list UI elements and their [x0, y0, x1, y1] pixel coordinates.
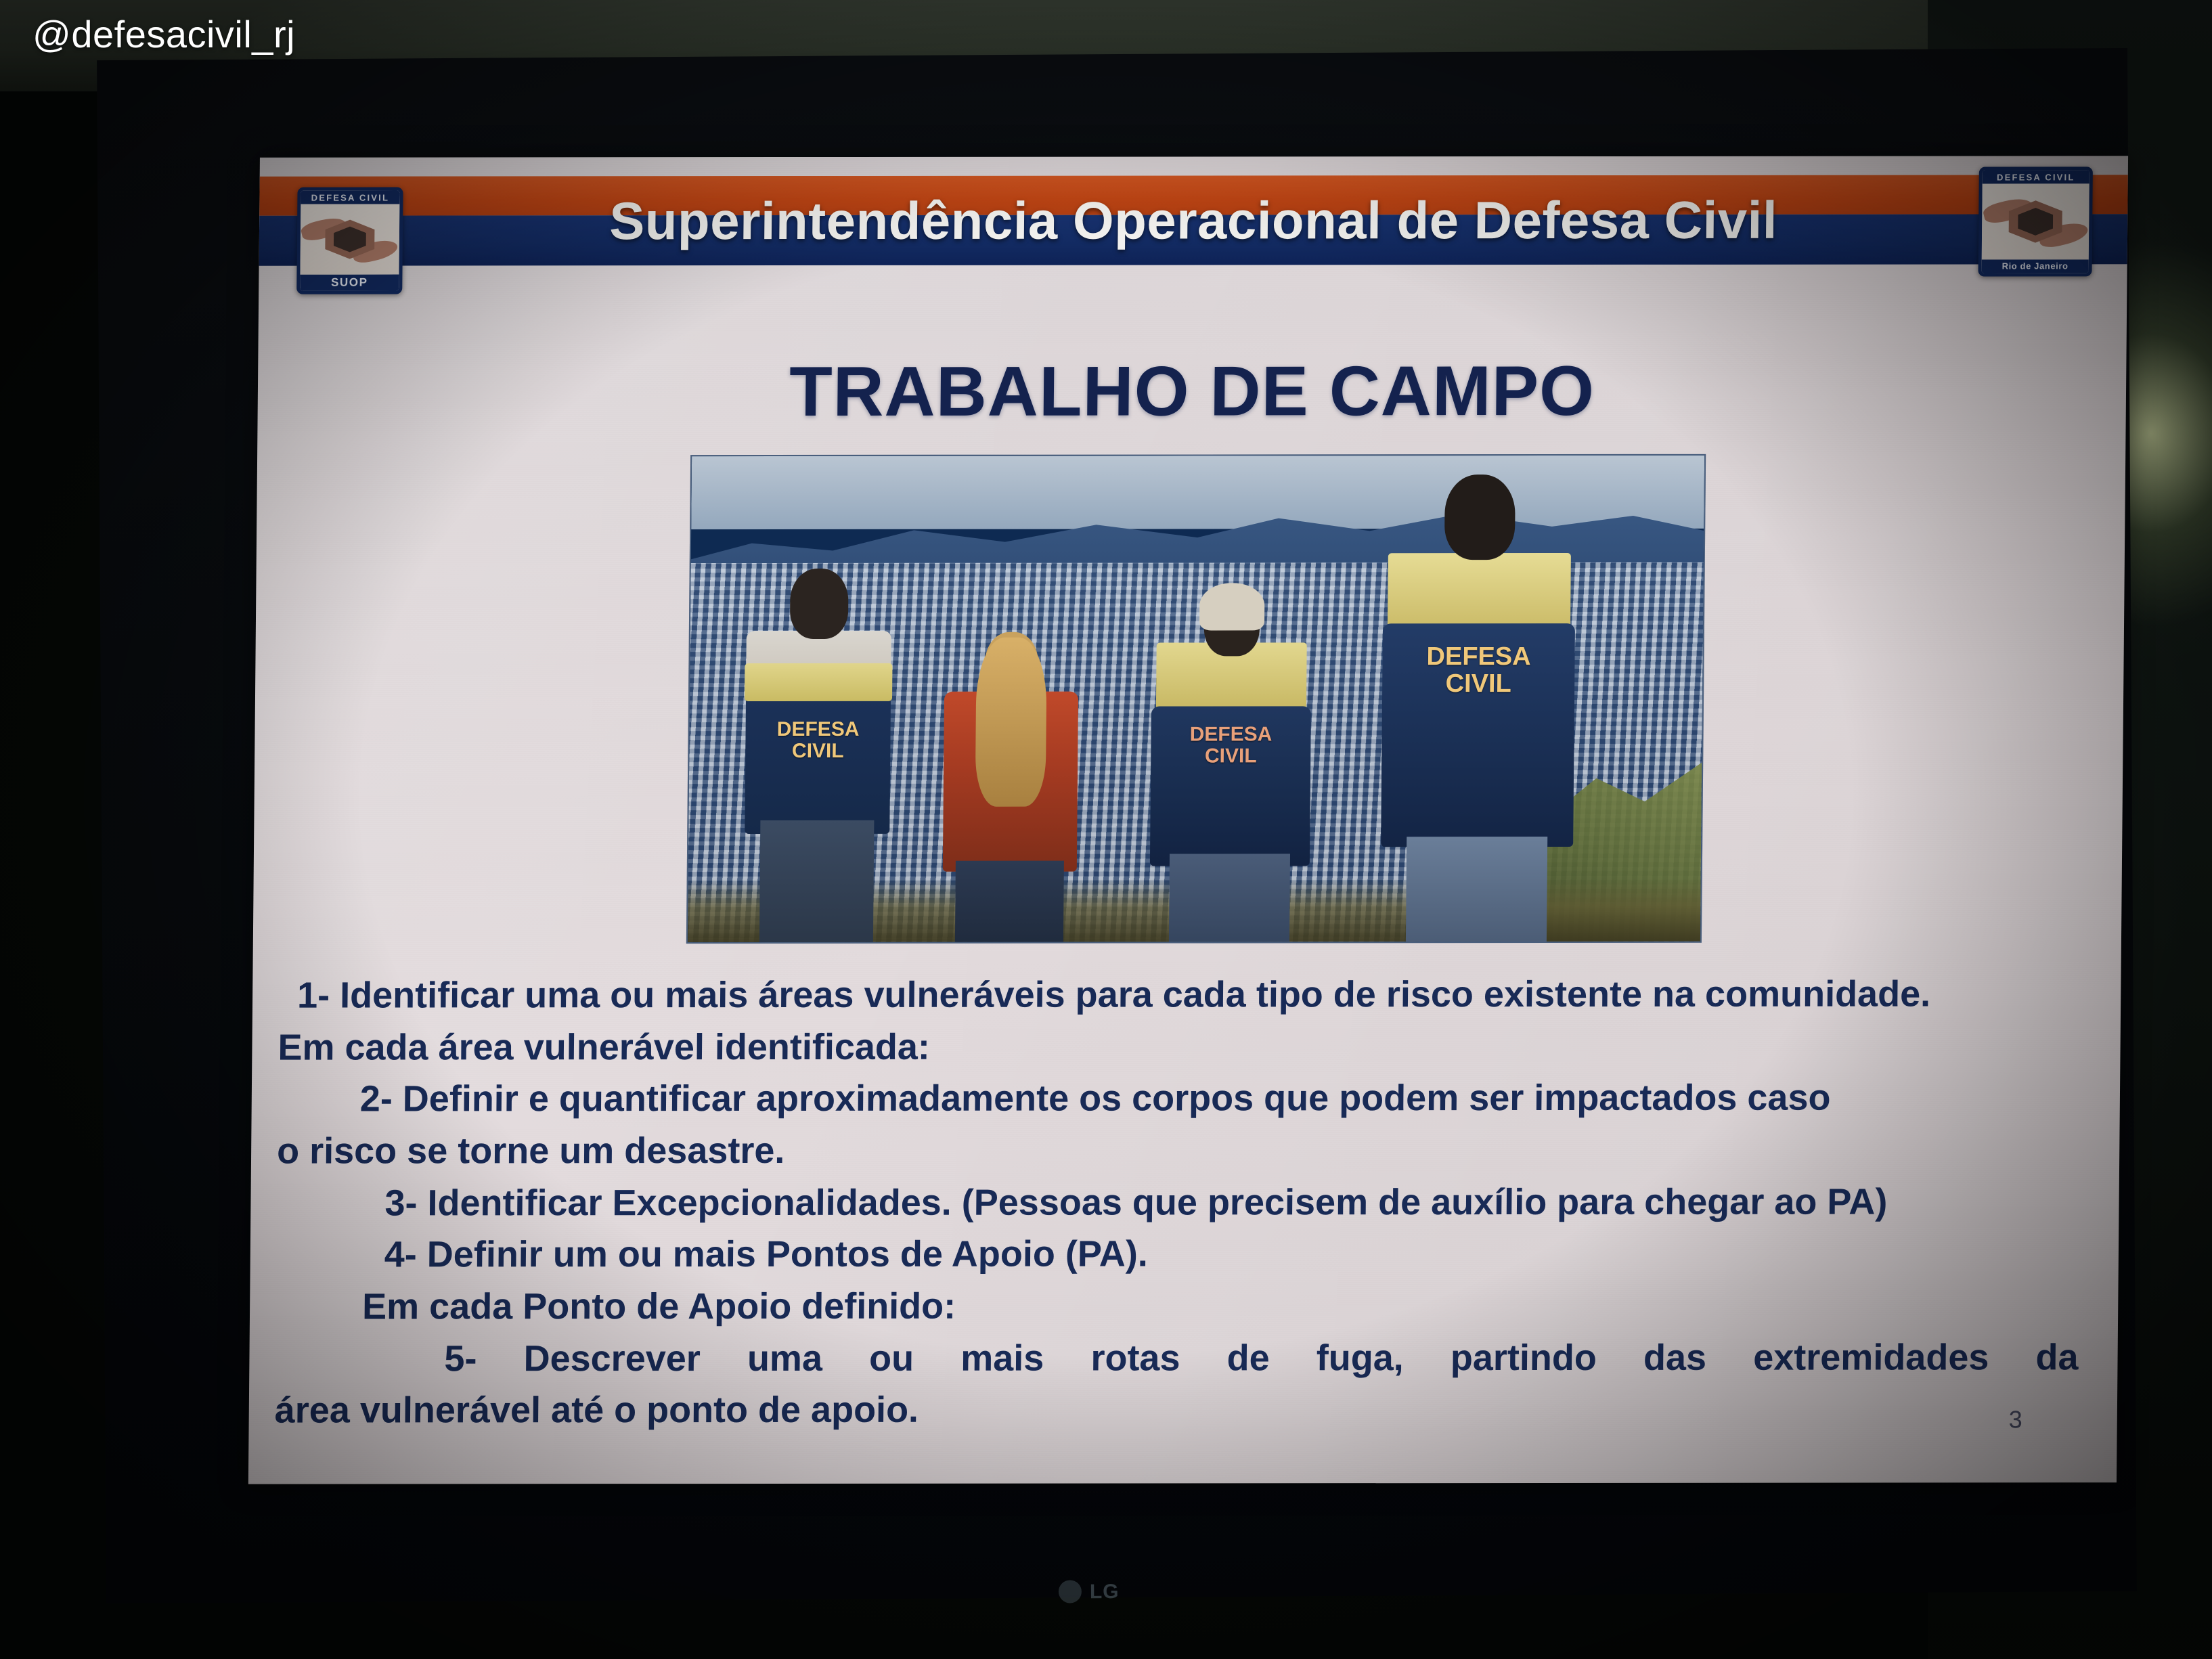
body-line-8: 5- Descrever uma ou mais rotas de fuga, … [444, 1331, 2079, 1385]
rj-logo-bottom-text: Rio de Janeiro [1982, 259, 2089, 273]
slide-header-banner: Superintendência Operacional de Defesa C… [259, 175, 2128, 265]
photo-person-1-head [790, 569, 849, 639]
defesa-civil-rj-logo-icon: DEFESA CIVIL Rio de Janeiro [1978, 167, 2093, 276]
monitor-logo-dot [1059, 1580, 1082, 1603]
banner-title-text: Superintendência Operacional de Defesa C… [259, 175, 2128, 265]
photo-person-4-legs [1406, 837, 1547, 944]
suop-logo-top-text: DEFESA CIVIL [301, 191, 399, 204]
rj-logo-top-text: DEFESA CIVIL [1983, 170, 2089, 183]
photo-person-3-vest-text: DEFESACIVIL [1189, 724, 1272, 766]
photo-person-1: DEFESACIVIL [728, 550, 908, 942]
room-backdrop: LG Superintendência Operacional de Defes… [0, 0, 2212, 1659]
suop-logo-icon: DEFESA CIVIL SUOP [296, 187, 403, 294]
body-line-2: Em cada área vulnerável identificada: [278, 1020, 2081, 1074]
presentation-slide: Superintendência Operacional de Defesa C… [248, 156, 2128, 1484]
body-line-6: 4- Definir um ou mais Pontos de Apoio (P… [384, 1228, 2079, 1281]
photo-person-1-reflective-stripe [745, 663, 892, 701]
photo-person-2-legs [955, 861, 1064, 944]
photo-person-4-vest-text: DEFESACIVIL [1426, 644, 1531, 698]
photo-person-4-reflective-stripe [1388, 553, 1571, 633]
photo-person-3-cap [1199, 583, 1265, 630]
photo-person-2 [925, 590, 1097, 942]
rj-logo-emblem [1982, 183, 2089, 259]
slide-page-number: 3 [2009, 1405, 2022, 1434]
field-work-photo: DEFESACIVIL DEFESACIVIL [686, 454, 1706, 944]
suop-logo-bottom-text: SUOP [300, 275, 399, 291]
monitor-bezel: LG Superintendência Operacional de Defes… [97, 48, 2137, 1603]
photo-person-1-vest-text: DEFESACIVIL [776, 719, 859, 761]
body-line-5: 3- Identificar Excepcionalidades. (Pesso… [384, 1176, 2080, 1229]
photo-person-4: DEFESACIVIL [1365, 474, 1592, 942]
photo-person-3: DEFESACIVIL [1128, 562, 1334, 942]
photo-person-4-head [1444, 474, 1516, 560]
monitor-brand-logo: LG [1090, 1580, 1120, 1603]
body-line-3: 2- Definir e quantificar aproximadamente… [359, 1072, 2081, 1126]
suop-logo-emblem [300, 204, 399, 275]
slide-title: TRABALHO DE CAMPO [257, 351, 2126, 433]
photo-person-3-legs [1169, 854, 1290, 943]
body-line-1: 1- Identificar uma ou mais áreas vulnerá… [297, 968, 2082, 1021]
body-line-9: área vulnerável até o ponto de apoio. [274, 1384, 2078, 1437]
photo-person-2-hair [975, 638, 1047, 807]
body-line-4: o risco se torne um desastre. [277, 1124, 2081, 1177]
body-line-7: Em cada Ponto de Apoio definido: [362, 1279, 2079, 1333]
photo-person-1-legs [759, 820, 875, 944]
account-handle-watermark: @defesacivil_rj [32, 12, 295, 56]
slide-body-text: 1- Identificar uma ou mais áreas vulnerá… [248, 968, 2121, 1436]
